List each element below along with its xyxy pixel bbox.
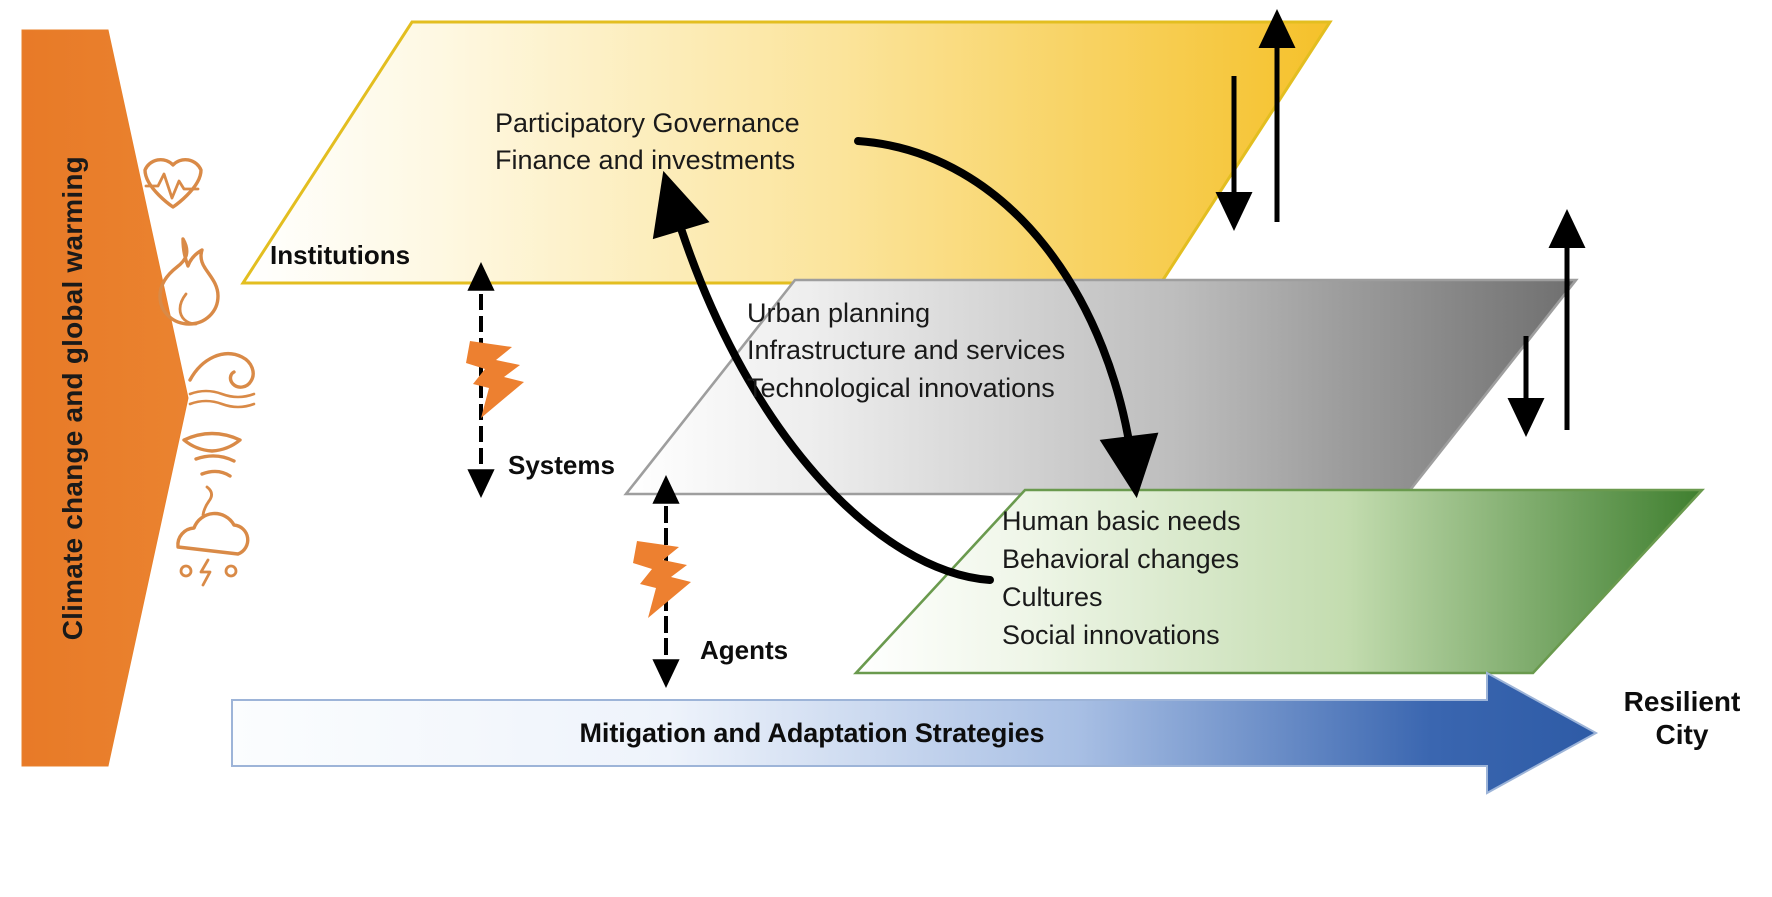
lightning-bolt-icon <box>466 341 524 418</box>
agents-item-1: Behavioral changes <box>1002 546 1239 573</box>
rain-cloud-icon <box>178 514 248 585</box>
diagram-canvas: Climate change and global warming Instit… <box>0 0 1772 897</box>
layer-label-institutions: Institutions <box>270 242 410 268</box>
lightning-bolt-icon <box>633 541 691 618</box>
layer-label-agents: Agents <box>700 637 788 663</box>
agents-item-2: Cultures <box>1002 584 1103 611</box>
institutions-item-0: Participatory Governance <box>495 110 800 137</box>
outcome-label: Resilient City <box>1597 685 1767 751</box>
systems-item-2: Technological innovations <box>747 375 1055 402</box>
systems-item-1: Infrastructure and services <box>747 337 1065 364</box>
climate-driver-shape <box>22 30 188 766</box>
systems-item-0: Urban planning <box>747 300 930 327</box>
outcome-line-2: City <box>1597 718 1767 751</box>
strategies-banner-label: Mitigation and Adaptation Strategies <box>232 703 1392 763</box>
agents-item-0: Human basic needs <box>1002 508 1241 535</box>
tornado-icon <box>184 434 240 516</box>
heartbeat-icon <box>145 160 201 207</box>
layer-label-systems: Systems <box>508 452 615 478</box>
wave-icon <box>190 354 254 407</box>
institutions-item-1: Finance and investments <box>495 147 795 174</box>
agents-item-3: Social innovations <box>1002 622 1220 649</box>
outcome-line-1: Resilient <box>1597 685 1767 718</box>
